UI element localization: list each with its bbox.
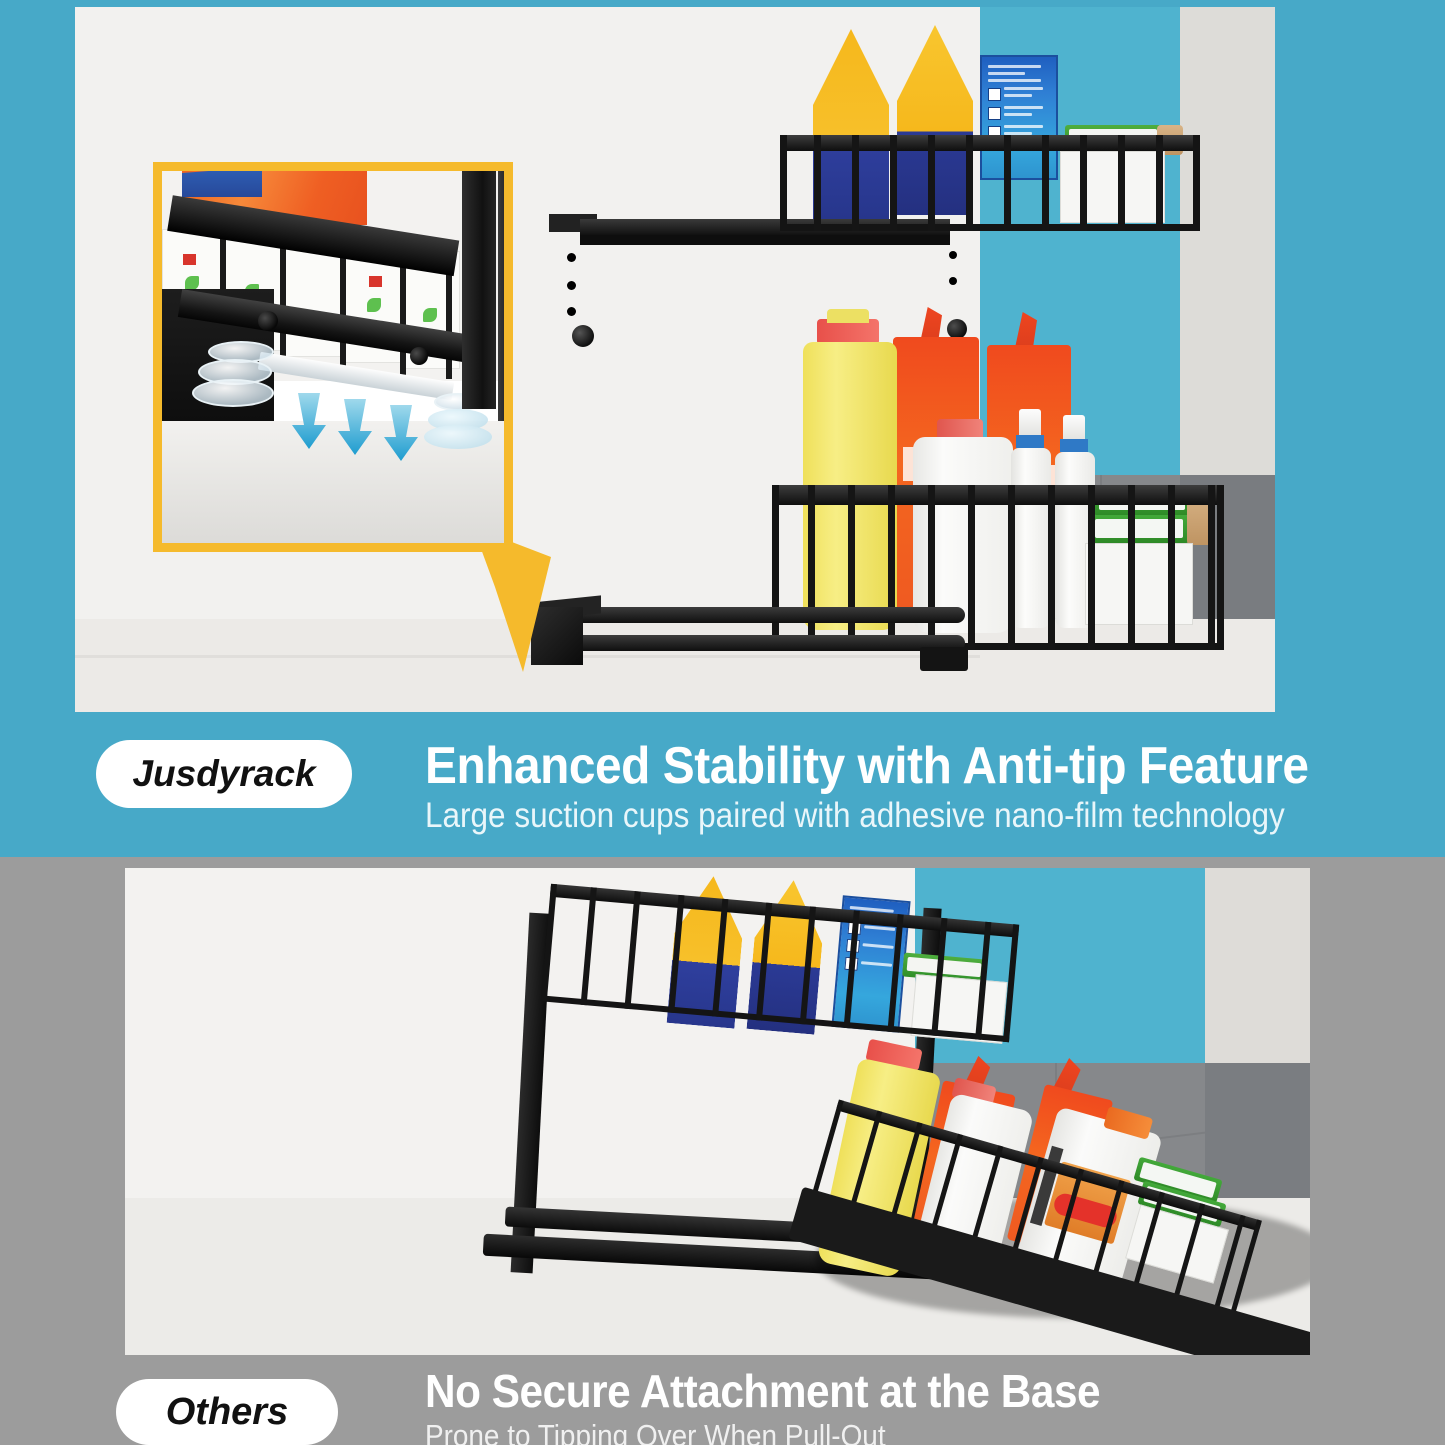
rack-adjust-hole [567, 253, 576, 262]
jusdyrack-product-photo [75, 7, 1275, 712]
detail-right-post [462, 171, 496, 409]
brand-badge-label: Jusdyrack [132, 753, 315, 795]
rack-adjust-hole [567, 281, 576, 290]
basket-bars [772, 485, 1224, 650]
rack-adjust-knob[interactable] [572, 325, 594, 347]
bottle-neck [827, 309, 869, 323]
down-arrow-icon [384, 405, 418, 461]
bottom-text-block: No Secure Attachment at the Base Prone t… [425, 1366, 1159, 1445]
brand-badge-others: Others [116, 1379, 338, 1445]
basket-bars [780, 135, 1200, 231]
detail-screw [258, 311, 278, 331]
suction-cup [192, 379, 274, 407]
top-headline: Enhanced Stability with Anti-tip Feature [425, 738, 1309, 794]
detail-screw [410, 347, 428, 365]
brand-badge-jusdyrack: Jusdyrack [96, 740, 352, 808]
bottom-subline: Prone to Tipping Over When Pull-Out [425, 1416, 1085, 1445]
rack-adjust-hole [949, 277, 957, 285]
competitor-product-photo [125, 868, 1310, 1355]
spray-cap [1019, 409, 1041, 437]
scene-wall-strip [1205, 868, 1310, 1063]
scene-wall-strip [1180, 7, 1275, 475]
detail-bag-blue [182, 167, 262, 197]
rack-base-rail [545, 635, 965, 651]
carton-print [988, 65, 1050, 139]
others-badge-label: Others [166, 1391, 288, 1434]
rack-adjust-hole [567, 307, 576, 316]
spray-cap [1063, 415, 1085, 441]
top-subline: Large suction cups paired with adhesive … [425, 794, 1289, 838]
down-arrow-icon [292, 393, 326, 449]
spray-band [1016, 435, 1044, 448]
detail-right-post-edge [498, 171, 512, 421]
rack-lower-basket [772, 485, 1224, 650]
spray-band [1060, 439, 1088, 452]
rack-adjust-knob[interactable] [947, 319, 967, 339]
bottom-headline: No Secure Attachment at the Base [425, 1366, 1100, 1416]
rack-crossbar-upper-shadow [580, 235, 950, 245]
suction-cup [424, 425, 492, 449]
rack-base-rail [545, 607, 965, 623]
rack-base-foot [920, 647, 968, 671]
suction-cup-detail-callout [153, 162, 513, 552]
down-arrow-icon [338, 399, 372, 455]
top-text-block: Enhanced Stability with Anti-tip Feature… [425, 738, 1385, 838]
rack-upper-basket [780, 135, 1200, 231]
rack-adjust-hole [949, 251, 957, 259]
